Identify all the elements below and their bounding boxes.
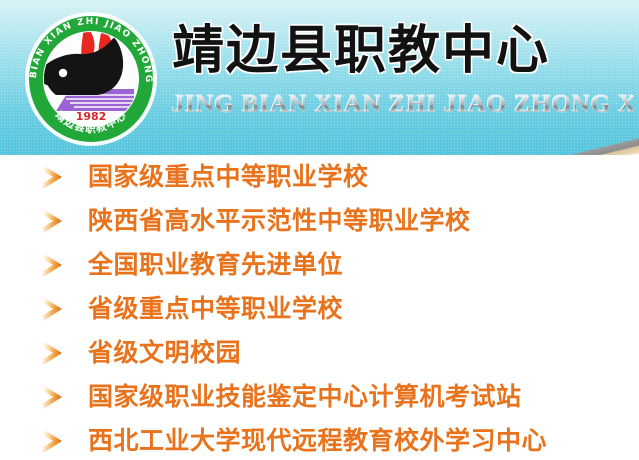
list-item-label: 省级重点中等职业学校 [88, 295, 343, 323]
school-title: 靖边县职教中心 [172, 20, 634, 82]
chevron-right-icon [40, 252, 64, 278]
list-item-label: 国家级职业技能鉴定中心计算机考试站 [88, 383, 522, 411]
logo-year: 1982 [76, 110, 107, 123]
list-item: 省级重点中等职业学校 [0, 287, 639, 331]
list-item: 全国职业教育先进单位 [0, 243, 639, 287]
header-banner: JING BIAN XIAN ZHI JIAO ZHONG XIN 靖边县职教中… [0, 0, 639, 155]
chevron-right-icon [40, 296, 64, 322]
chevron-right-icon [40, 164, 64, 190]
list-item: 陕西省高水平示范性中等职业学校 [0, 199, 639, 243]
honors-list: 国家级重点中等职业学校 陕西省高水平示范性中等职业学校 [0, 155, 639, 460]
school-logo: JING BIAN XIAN ZHI JIAO ZHONG XIN 靖边县职教中… [22, 7, 160, 147]
list-item-label: 国家级重点中等职业学校 [88, 163, 369, 191]
list-item-label: 西北工业大学现代远程教育校外学习中心 [88, 427, 547, 455]
school-honors-banner: JING BIAN XIAN ZHI JIAO ZHONG XIN 靖边县职教中… [0, 0, 639, 460]
list-item: 西北工业大学现代远程教育校外学习中心 [0, 419, 639, 460]
chevron-right-icon [40, 340, 64, 366]
chevron-right-icon [40, 208, 64, 234]
chevron-right-icon [40, 428, 64, 454]
list-item: 省级文明校园 [0, 331, 639, 375]
list-item-label: 陕西省高水平示范性中等职业学校 [88, 207, 471, 235]
list-item: 国家级职业技能鉴定中心计算机考试站 [0, 375, 639, 419]
chevron-right-icon [40, 384, 64, 410]
list-item-label: 全国职业教育先进单位 [88, 251, 343, 279]
school-subtitle-pinyin: JING BIAN XIAN ZHI JIAO ZHONG XIN [172, 90, 634, 120]
list-item: 国家级重点中等职业学校 [0, 155, 639, 199]
title-block: 靖边县职教中心 JING BIAN XIAN ZHI JIAO ZHONG XI… [172, 18, 634, 140]
list-item-label: 省级文明校园 [88, 339, 241, 367]
